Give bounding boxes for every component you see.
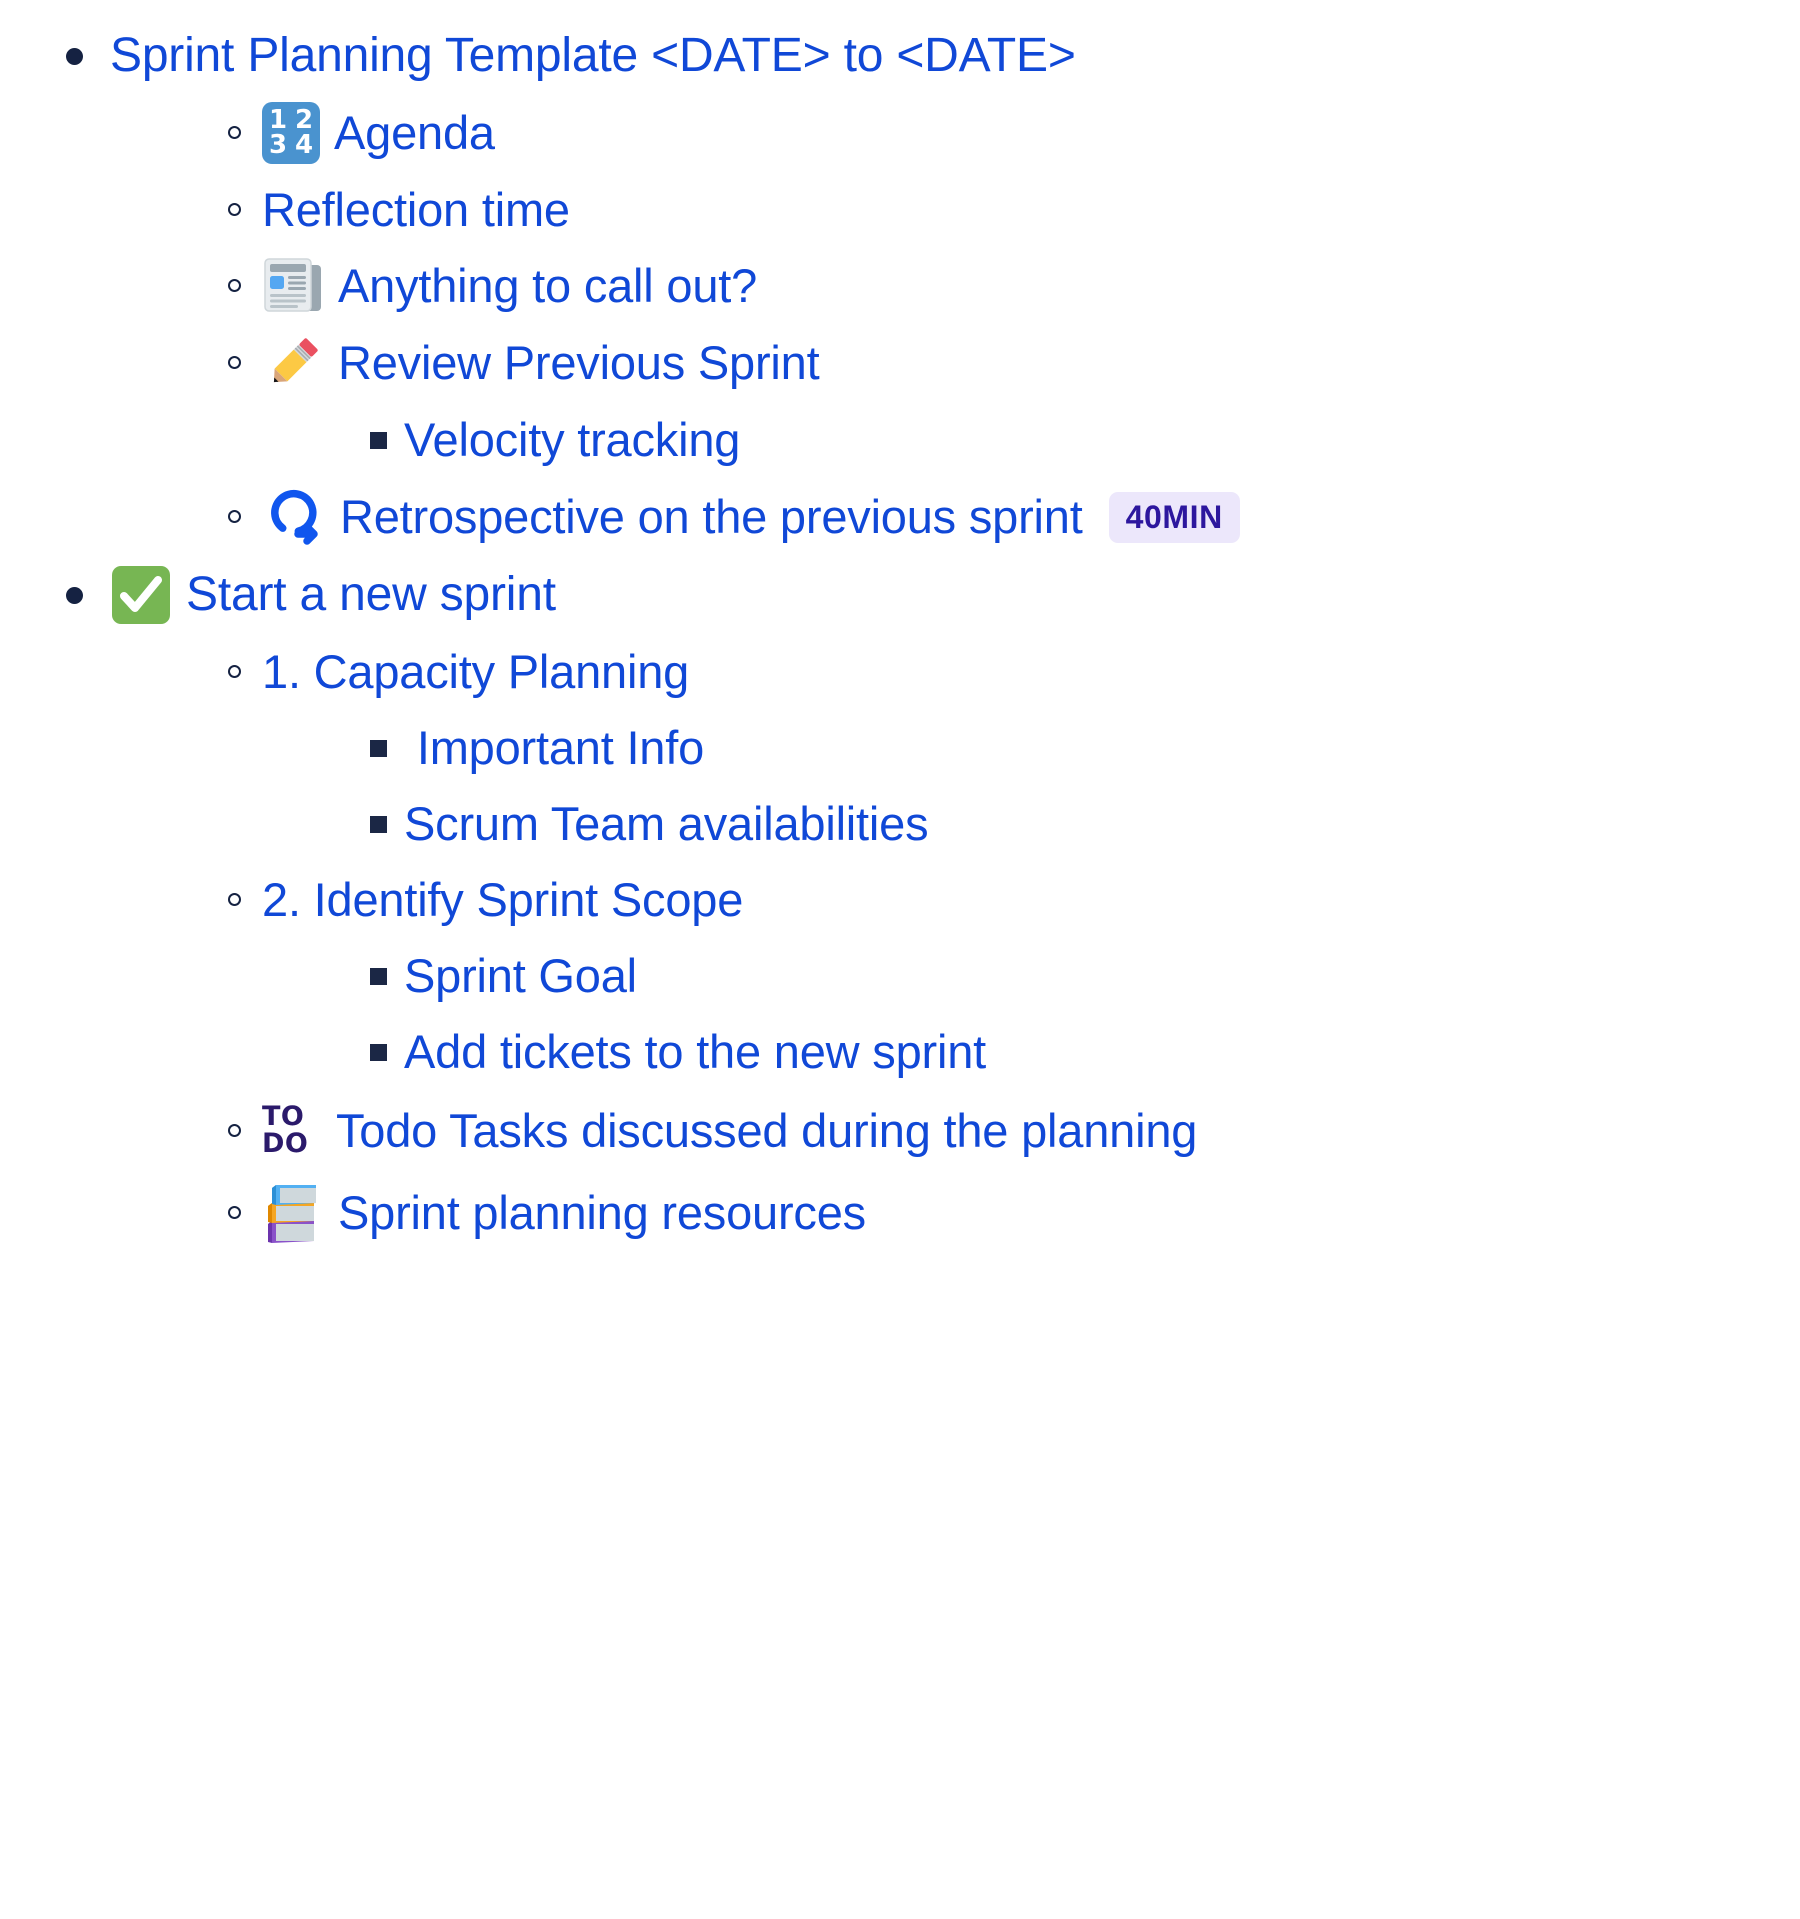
outline-item-label[interactable]: 1. Capacity Planning: [262, 646, 689, 699]
outline-item-velocity-tracking: Velocity tracking: [354, 402, 1800, 478]
outline-item-capacity-planning: 1. Capacity Planning Important Info Scru…: [210, 634, 1800, 862]
outline-item-label[interactable]: Scrum Team availabilities: [404, 798, 928, 851]
outline-item-label[interactable]: Reflection time: [262, 184, 570, 237]
outline-sublist-level3: Sprint Goal Add tickets to the new sprin…: [262, 938, 1800, 1090]
outline-sublist-level2: 1 2 3 4 Agenda Reflection time: [110, 94, 1800, 556]
outline-row[interactable]: Sprint planning resources: [262, 1172, 1800, 1254]
outline-row[interactable]: Sprint Goal: [404, 938, 1800, 1014]
duration-badge: 40MIN: [1109, 492, 1240, 543]
outline-sublist-level3: Velocity tracking: [262, 402, 1800, 478]
outline-row[interactable]: 1. Capacity Planning: [262, 634, 1800, 710]
outline-row[interactable]: Velocity tracking: [404, 402, 1800, 478]
outline-row[interactable]: 2. Identify Sprint Scope: [262, 862, 1800, 938]
outline-item-label[interactable]: Todo Tasks discussed during the planning: [336, 1105, 1197, 1158]
input-numbers-icon: 1 2 3 4: [262, 102, 320, 164]
outline-row[interactable]: Important Info: [404, 710, 1800, 786]
outline-item-anything-to-call-out: Anything to call out?: [210, 248, 1800, 324]
page-title[interactable]: Sprint Planning Template <DATE> to <DATE…: [110, 29, 1076, 83]
outline-row[interactable]: Retrospective on the previous sprint 40M…: [262, 478, 1800, 556]
outline-row[interactable]: Reflection time: [262, 172, 1800, 248]
outline-item-sprint-goal: Sprint Goal: [354, 938, 1800, 1014]
outline-sublist-level2: 1. Capacity Planning Important Info Scru…: [110, 634, 1800, 1254]
outline-item-reflection-time: Reflection time: [210, 172, 1800, 248]
outline-item-label[interactable]: Start a new sprint: [186, 568, 556, 622]
outline-item-label[interactable]: Important Info: [404, 722, 704, 775]
outline-row[interactable]: Scrum Team availabilities: [404, 786, 1800, 862]
outline-item-agenda: 1 2 3 4 Agenda: [210, 94, 1800, 172]
outline-item-add-tickets: Add tickets to the new sprint: [354, 1014, 1800, 1090]
todo-icon: TO DO: [262, 1098, 322, 1164]
input-numbers-digit-4: 4: [295, 133, 313, 158]
outline-row[interactable]: Sprint Planning Template <DATE> to <DATE…: [110, 18, 1800, 94]
loop-arrow-icon: [262, 486, 326, 548]
todo-icon-line-2: DO: [262, 1131, 322, 1158]
input-numbers-digit-3: 3: [269, 133, 287, 158]
todo-icon-line-1: TO: [262, 1104, 322, 1131]
pencil-icon: [262, 332, 324, 394]
outline-item-retrospective: Retrospective on the previous sprint 40M…: [210, 478, 1800, 556]
outline-row[interactable]: Review Previous Sprint: [262, 324, 1800, 402]
outline-item-start-a-new-sprint: Start a new sprint 1. Capacity Planning …: [42, 556, 1800, 1254]
outline-item-label[interactable]: Add tickets to the new sprint: [404, 1026, 986, 1079]
outline-item-important-info: Important Info: [354, 710, 1800, 786]
outline-document: Sprint Planning Template <DATE> to <DATE…: [0, 0, 1800, 1254]
outline-item-label[interactable]: Sprint Goal: [404, 950, 637, 1003]
outline-row[interactable]: Anything to call out?: [262, 248, 1800, 324]
outline-item-label[interactable]: Sprint planning resources: [338, 1187, 866, 1240]
outline-item-label[interactable]: Retrospective on the previous sprint: [340, 491, 1083, 544]
outline-item-label[interactable]: Agenda: [334, 107, 495, 160]
outline-row[interactable]: Start a new sprint: [110, 556, 1800, 634]
outline-item-identify-sprint-scope: 2. Identify Sprint Scope Sprint Goal Add…: [210, 862, 1800, 1090]
outline-sublist-level3: Important Info Scrum Team availabilities: [262, 710, 1800, 862]
outline-item-scrum-team-availabilities: Scrum Team availabilities: [354, 786, 1800, 862]
check-mark-button-icon: [110, 564, 172, 626]
outline-row[interactable]: TO DO Todo Tasks discussed during the pl…: [262, 1090, 1800, 1172]
outline-item-todo-tasks: TO DO Todo Tasks discussed during the pl…: [210, 1090, 1800, 1172]
outline-row[interactable]: Add tickets to the new sprint: [404, 1014, 1800, 1090]
outline-root-list: Sprint Planning Template <DATE> to <DATE…: [0, 18, 1800, 1254]
outline-item-label[interactable]: Anything to call out?: [338, 260, 757, 313]
books-icon: [262, 1180, 324, 1246]
outline-item-label[interactable]: Review Previous Sprint: [338, 337, 819, 390]
outline-item-label[interactable]: 2. Identify Sprint Scope: [262, 874, 743, 927]
newspaper-icon: [262, 257, 324, 315]
outline-item-review-previous-sprint: Review Previous Sprint Velocity tracking: [210, 324, 1800, 478]
outline-row[interactable]: 1 2 3 4 Agenda: [262, 94, 1800, 172]
outline-item-label[interactable]: Velocity tracking: [404, 414, 740, 467]
outline-item-sprint-planning-template: Sprint Planning Template <DATE> to <DATE…: [42, 18, 1800, 556]
outline-item-sprint-planning-resources: Sprint planning resources: [210, 1172, 1800, 1254]
